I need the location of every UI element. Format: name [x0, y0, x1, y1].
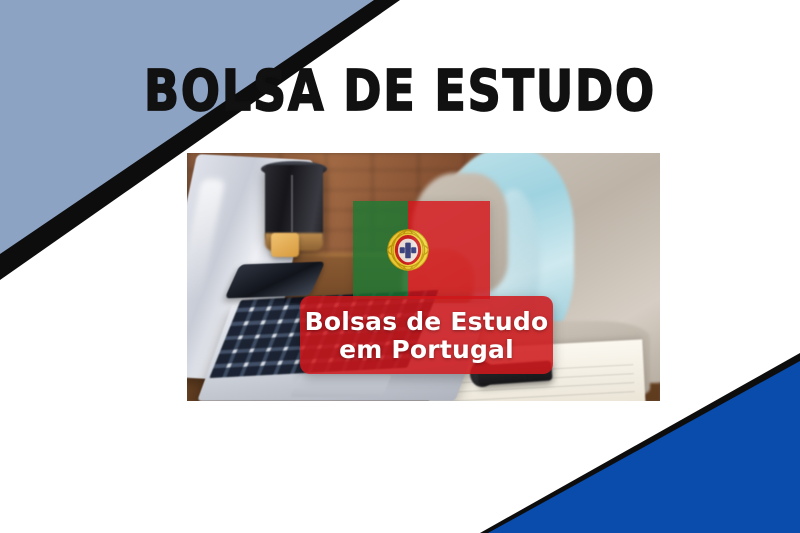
photo-scene: Bolsas de Estudo em Portugal	[187, 153, 660, 401]
hero-photo: Bolsas de Estudo em Portugal	[187, 153, 660, 401]
page-title: BOLSA DE ESTUDO	[32, 59, 768, 124]
tea-bag-string	[291, 175, 293, 233]
smartphone	[225, 262, 326, 299]
banner-line-one: Bolsas de Estudo	[305, 308, 549, 335]
armillary-sphere-crest-icon	[385, 227, 431, 273]
laptop-trackpad	[290, 375, 392, 397]
status-banner: Bolsas de Estudo em Portugal	[300, 296, 553, 374]
tea-bag-tag	[271, 233, 299, 257]
poster-canvas: BOLSA DE ESTUDO	[0, 0, 800, 533]
portugal-flag-icon	[353, 201, 490, 299]
banner-line-two: em Portugal	[339, 336, 514, 363]
